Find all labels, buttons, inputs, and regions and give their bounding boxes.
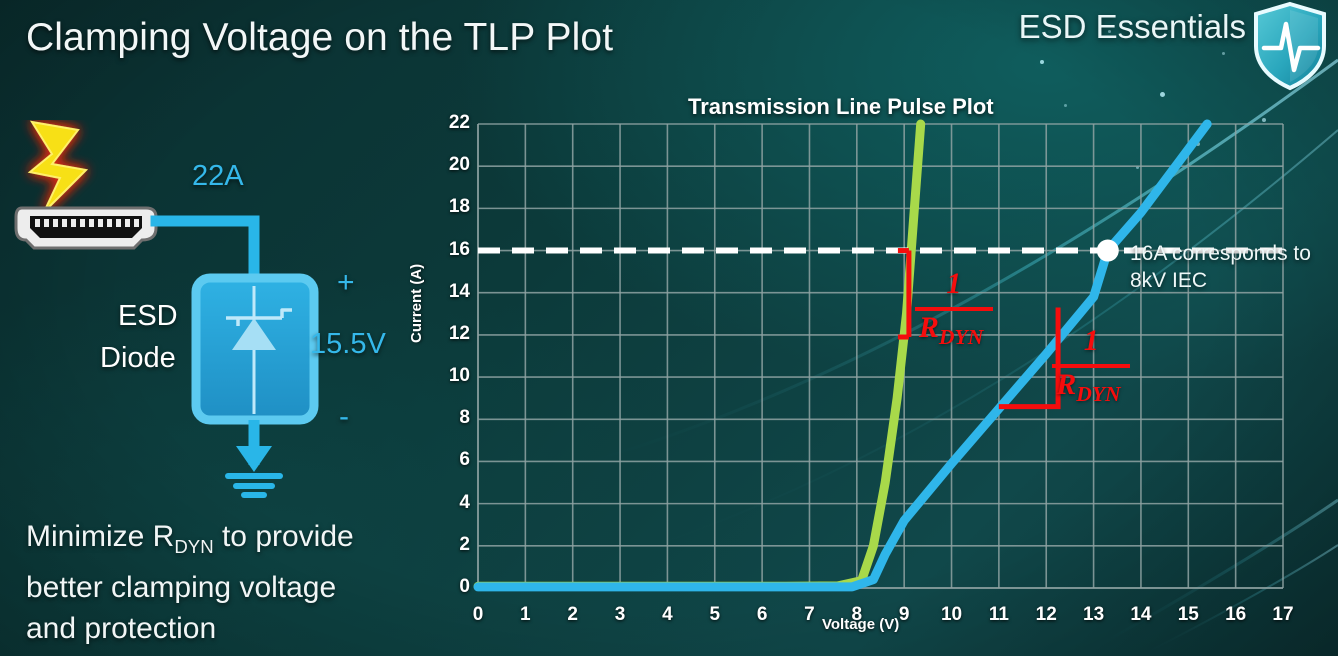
y-axis-title: Current (A)	[408, 264, 425, 343]
slope-2-denominator: RDYN	[1056, 368, 1120, 407]
brand-name: ESD Essentials	[1019, 8, 1246, 46]
shield-heartbeat-icon	[1248, 0, 1332, 92]
slope-2-numerator: 1	[1052, 324, 1130, 358]
lightning-bolt-icon	[30, 122, 86, 212]
caption-line1-post: to provide	[214, 520, 354, 553]
esd-diode-circuit: 22A ESD Diode 15.5V + -	[0, 120, 430, 510]
summary-caption: Minimize RDYN to provide better clamping…	[26, 516, 446, 649]
caption-line2: better clamping voltage	[26, 571, 336, 604]
zener-diode-icon	[196, 278, 314, 420]
slope-2-denom-base: R	[1056, 368, 1076, 401]
component-label-esd: ESD	[118, 300, 178, 333]
caption-line3: and protection	[26, 612, 216, 645]
caption-line1-sub: DYN	[174, 536, 213, 557]
page-title: Clamping Voltage on the TLP Plot	[26, 16, 613, 60]
caption-line1-pre: Minimize R	[26, 520, 174, 553]
slope-1-denom-sub: DYN	[939, 325, 983, 349]
ground-symbol-icon	[228, 420, 280, 495]
slope-1-denominator: RDYN	[919, 311, 983, 350]
clamp-voltage-label: 15.5V	[310, 328, 386, 361]
tlp-chart: Transmission Line Pulse Plot Voltage (V)…	[430, 88, 1338, 656]
series-line	[478, 124, 921, 586]
operating-point-marker	[1097, 240, 1119, 262]
polarity-plus-label: +	[337, 266, 355, 300]
component-label-diode: Diode	[100, 342, 176, 375]
slope-2-denom-sub: DYN	[1076, 382, 1120, 406]
slope-1-numerator: 1	[915, 267, 993, 301]
slope-1-denom-base: R	[919, 311, 939, 344]
surge-current-label: 22A	[192, 160, 244, 193]
plot-area	[430, 88, 1338, 656]
hdmi-connector-icon	[16, 208, 156, 248]
polarity-minus-label: -	[339, 400, 349, 434]
callout-note: 16A corresponds to 8kV IEC	[1130, 240, 1338, 294]
